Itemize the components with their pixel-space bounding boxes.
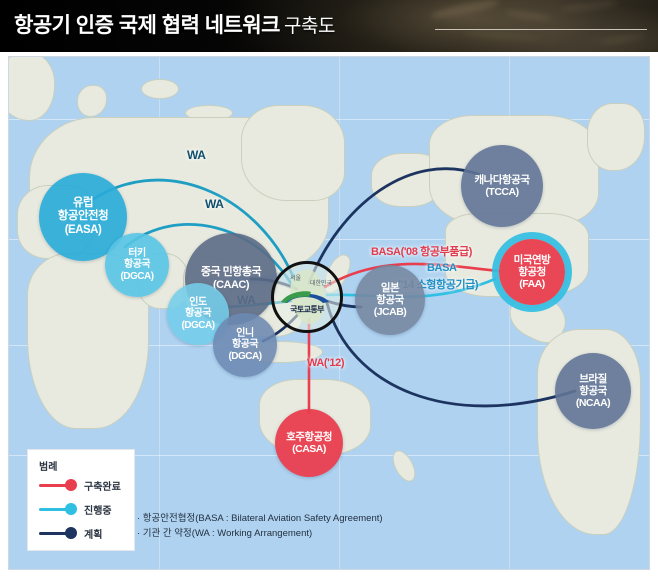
page-title-main: 항공기 인증 국제 협력 네트워크 [14, 14, 280, 37]
legend-dot-planned [65, 527, 77, 539]
node-ncaa-line1: 브라질 [579, 373, 606, 385]
legend-label-in-progress: 진행중 [84, 502, 112, 517]
legend-title: 범례 [39, 458, 57, 473]
node-ncaa[interactable]: 브라질 항공국 (NCAA) [555, 353, 631, 429]
node-jcab-line1: 일본 [381, 282, 399, 294]
node-faa-line1: 미국연방 [514, 254, 551, 266]
node-indonesia-dgca[interactable]: 인니 항공국 (DGCA) [213, 313, 277, 377]
node-jcab[interactable]: 일본 항공국 (JCAB) [355, 265, 425, 335]
legend-dot-completed [65, 479, 77, 491]
node-ncaa-line3: (NCAA) [576, 397, 610, 409]
node-casa-line1: 호주항공청 [286, 431, 332, 443]
node-turkey-line3: (DGCA) [120, 271, 153, 283]
title-rule [435, 29, 647, 30]
legend-label-planned: 계획 [84, 526, 102, 541]
node-turkey-line2: 항공국 [124, 259, 150, 271]
page-title-sub: 구축도 [284, 16, 335, 37]
header-bar: 항공기 인증 국제 협력 네트워크구축도 [0, 0, 658, 52]
molit-swoosh-icon [279, 288, 331, 305]
node-casa[interactable]: 호주항공청 (CASA) [275, 409, 343, 477]
node-korea-molit[interactable]: 서울 대한민국 국토교통부 [271, 261, 343, 333]
node-easa-line2: 항공안전청 [58, 210, 108, 223]
legend-box: 범례 구축완료 진행중 계획 [27, 449, 135, 551]
footnote-wa: · 기관 간 약정(WA : Working Arrangement) [137, 527, 383, 542]
node-jcab-line2: 항공국 [376, 294, 403, 306]
header-texture [560, 0, 619, 13]
node-tcca-line1: 캐나다항공국 [475, 174, 530, 186]
header-texture [462, 30, 542, 42]
node-indonesia-line1: 인니 [236, 328, 253, 340]
world-map-panel: .r-red { stroke:#e93e4e; fill:none; stro… [8, 56, 650, 570]
node-indonesia-line2: 항공국 [232, 339, 258, 351]
infographic-page: 항공기 인증 국제 협력 네트워크구축도 [0, 0, 658, 578]
node-turkey-dgca[interactable]: 터키 항공국 (DGCA) [105, 233, 169, 297]
korea-city-label: 서울 [290, 273, 301, 282]
molit-logo: 국토교통부 [279, 288, 335, 315]
legend-label-completed: 구축완료 [84, 478, 121, 493]
node-jcab-line3: (JCAB) [374, 306, 407, 318]
route-label-basa-08: BASA('08 항공부품급) [371, 243, 472, 259]
header-texture [600, 32, 646, 46]
footnote-basa: · 항공안전협정(BASA : Bilateral Aviation Safet… [137, 512, 383, 527]
route-label-wa-easa: WA [187, 148, 206, 162]
legend-dot-in-progress [65, 503, 77, 515]
node-faa-line2: 항공청 [518, 266, 545, 278]
node-easa-line1: 유럽 [73, 197, 93, 210]
footnotes: · 항공안전협정(BASA : Bilateral Aviation Safet… [137, 512, 383, 541]
node-caac-line1: 중국 민항총국 [201, 266, 261, 279]
header-texture [430, 0, 501, 21]
node-india-line2: 항공국 [185, 308, 211, 320]
node-faa[interactable]: 미국연방 항공청 (FAA) [499, 239, 565, 305]
route-label-basa-14: BASA [427, 262, 457, 274]
node-ncaa-line2: 항공국 [579, 385, 606, 397]
header-texture [505, 9, 552, 22]
node-tcca[interactable]: 캐나다항공국 (TCCA) [461, 145, 543, 227]
node-turkey-line1: 터키 [128, 248, 145, 260]
node-casa-line2: (CASA) [292, 443, 326, 455]
molit-name: 국토교통부 [279, 304, 335, 315]
node-india-line3: (DGCA) [181, 320, 214, 332]
node-indonesia-line3: (DGCA) [228, 351, 261, 363]
node-faa-line3: (FAA) [519, 278, 545, 290]
node-easa-line3: (EASA) [65, 224, 102, 237]
route-label-wa-12: WA('12) [307, 357, 344, 369]
route-label-wa-turkey: WA [205, 197, 224, 211]
page-title: 항공기 인증 국제 협력 네트워크구축도 [14, 9, 335, 39]
node-india-line1: 인도 [189, 297, 206, 309]
korea-country-label: 대한민국 [310, 278, 332, 287]
node-tcca-line2: (TCCA) [485, 186, 518, 198]
